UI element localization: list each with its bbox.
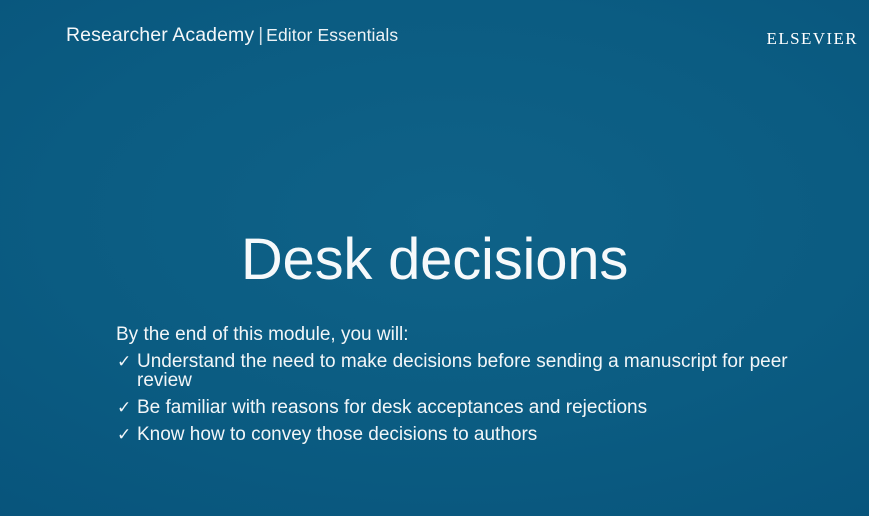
brand-breadcrumb: Researcher Academy|Editor Essentials	[66, 26, 398, 46]
objectives-intro-text: By the end of this module, you will:	[116, 323, 799, 347]
learning-objectives: By the end of this module, you will: ✓ U…	[116, 323, 799, 444]
check-icon: ✓	[117, 352, 131, 371]
objective-list: ✓ Understand the need to make decisions …	[116, 352, 799, 444]
list-item: ✓ Be familiar with reasons for desk acce…	[116, 398, 799, 417]
presentation-slide: Researcher Academy|Editor Essentials ELS…	[0, 0, 869, 516]
list-item-label: Know how to convey those decisions to au…	[137, 425, 799, 444]
list-item: ✓ Understand the need to make decisions …	[116, 352, 799, 390]
list-item: ✓ Know how to convey those decisions to …	[116, 425, 799, 444]
check-icon: ✓	[117, 425, 131, 444]
brand-name-primary: Researcher Academy	[66, 24, 254, 46]
check-icon: ✓	[117, 398, 131, 417]
elsevier-logo-icon: ELSEVIER	[767, 30, 858, 47]
slide-header: Researcher Academy|Editor Essentials ELS…	[0, 0, 869, 72]
list-item-label: Be familiar with reasons for desk accept…	[137, 398, 799, 417]
list-item-label: Understand the need to make decisions be…	[137, 352, 799, 390]
brand-name-secondary: Editor Essentials	[266, 25, 398, 45]
brand-divider: |	[258, 25, 263, 46]
slide-title: Desk decisions	[0, 231, 869, 289]
